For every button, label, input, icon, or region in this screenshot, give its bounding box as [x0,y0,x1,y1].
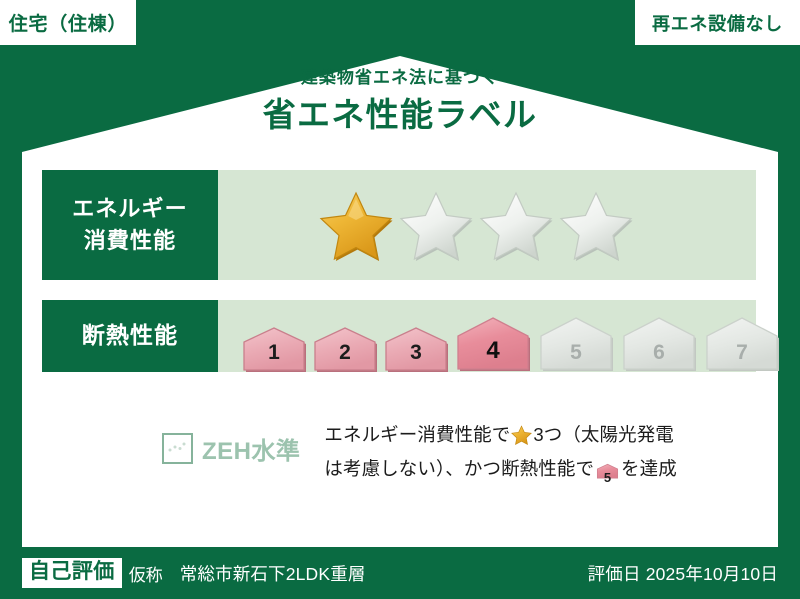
insulation-level-number-7: 7 [702,341,782,365]
insulation-performance-row: 断熱性能 [42,300,756,372]
energy-performance-label: エネルギー 消費性能 [42,170,218,280]
title-subtitle: 建築物省エネ法に基づく [0,68,800,88]
zeh-badge: ZEH水準 [162,431,300,466]
insulation-level-chip-6: 6 [619,316,699,372]
energy-performance-label: 住宅（住棟） 再エネ設備なし 建築物省エネ法に基づく 省エネ性能ラベル エネルギ… [0,0,800,599]
insulation-level-chip-4-current: 4 [453,316,533,372]
star-icon-empty-4 [558,189,634,261]
insulation-level-chip-3: 3 [382,326,450,372]
insulation-level-number-2: 2 [311,341,379,365]
insulation-level-chip-2: 2 [311,326,379,372]
title-block: 建築物省エネ法に基づく 省エネ性能ラベル [0,68,800,136]
zeh-desc-part3: は考慮しない）、かつ断熱性能で [324,458,594,479]
inline-star-icon [511,424,532,454]
renewable-equipment-tag: 再エネ設備なし [635,0,800,45]
zeh-checkbox-icon[interactable] [162,433,193,464]
property-name: 常総市新石下2LDK重層 [180,561,366,586]
insulation-level-number-3: 3 [382,341,450,365]
footer-bar: 自己評価 仮称 常総市新石下2LDK重層 評価日 2025年10月10日 [0,547,800,599]
self-evaluation-badge: 自己評価 [22,558,122,587]
zeh-desc-part1: エネルギー消費性能で [324,424,510,445]
energy-label-line1: エネルギー [72,193,188,225]
star-icon-empty-3 [478,189,554,261]
insulation-level-chip-1: 1 [240,326,308,372]
insulation-level-scale: 1 2 3 [218,300,782,381]
star-icon-empty-2 [398,189,474,261]
evaluation-date: 評価日 2025年10月10日 [588,561,778,586]
insulation-level-number-4: 4 [453,337,533,365]
star-icon-filled-1 [318,189,394,261]
inline-house-number: 5 [596,467,619,488]
insulation-level-number-6: 6 [619,341,699,365]
energy-label-line2: 消費性能 [84,225,176,257]
inline-house-icon: 5 [596,459,619,489]
evaluation-date-label: 評価日 [588,564,641,584]
star-rating-area [218,170,756,280]
provisional-name-label: 仮称 [129,561,163,586]
page-title: 省エネ性能ラベル [0,94,800,135]
insulation-level-number-1: 1 [240,341,308,365]
insulation-level-chip-7: 7 [702,316,782,372]
building-type-tag: 住宅（住棟） [0,0,136,45]
zeh-standard-note: ZEH水準 エネルギー消費性能で 3つ（太陽光発電 は考慮しない）、かつ断熱性能… [42,420,756,489]
zeh-label: ZEH水準 [202,431,300,466]
zeh-desc-part4: を達成 [621,458,677,479]
insulation-level-chip-5: 5 [536,316,616,372]
zeh-desc-part2: 3つ（太陽光発電 [533,424,674,445]
evaluation-date-value: 2025年10月10日 [646,564,778,584]
insulation-level-number-5: 5 [536,341,616,365]
insulation-performance-label: 断熱性能 [42,300,218,372]
zeh-description: エネルギー消費性能で 3つ（太陽光発電 は考慮しない）、かつ断熱性能で 5 を達… [324,420,676,489]
energy-performance-row: エネルギー 消費性能 [42,170,756,280]
